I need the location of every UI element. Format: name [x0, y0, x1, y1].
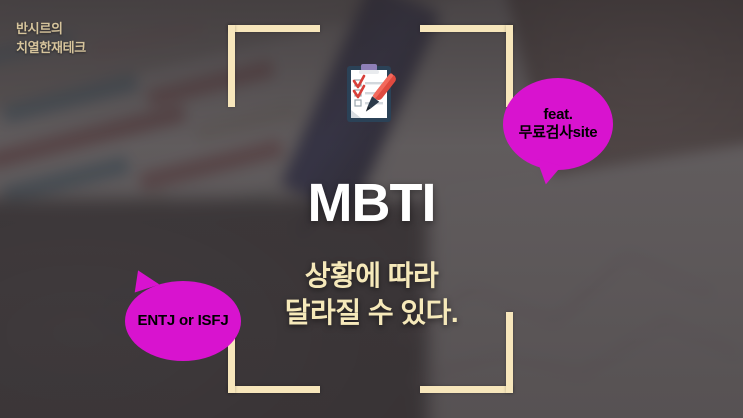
frame-bar-horizontal — [228, 25, 320, 32]
speech-bubble-text: ENTJ or ISFJ — [138, 312, 229, 330]
frame-bar-horizontal — [228, 386, 320, 393]
clipboard-checklist-icon — [345, 62, 397, 126]
subtitle-line-2: 달라질 수 있다. — [0, 295, 743, 332]
page-subtitle: 상황에 따라 달라질 수 있다. — [0, 258, 743, 332]
frame-bar-vertical — [506, 25, 513, 107]
speech-bubble-feat: feat. 무료검사site — [503, 78, 613, 170]
page-title: MBTI — [0, 176, 743, 230]
frame-bar-horizontal — [420, 386, 513, 393]
brand-logo: 반시르의 치열한재테크 — [16, 20, 86, 58]
frame-bar-horizontal — [420, 25, 513, 32]
thumbnail-canvas: 반시르의 치열한재테크 MBTI 상황에 따라 달라질 수 있다. feat. … — [0, 0, 743, 418]
speech-bubble-mbti-types: ENTJ or ISFJ — [125, 281, 241, 361]
bubble-right-line-2: 무료검사site — [519, 124, 598, 141]
logo-line-2: 치열한재테크 — [16, 39, 86, 58]
logo-line-1: 반시르의 — [16, 20, 86, 39]
bubble-right-line-1: feat. — [543, 106, 572, 123]
frame-bar-vertical — [228, 25, 235, 107]
subtitle-line-1: 상황에 따라 — [0, 258, 743, 295]
speech-bubble-text: feat. 무료검사site — [519, 106, 598, 142]
